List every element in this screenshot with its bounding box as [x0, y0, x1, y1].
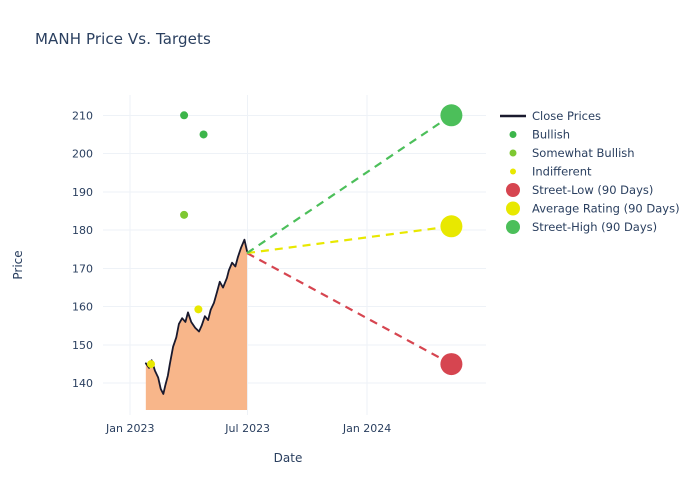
target-line-street-high-days — [247, 115, 451, 253]
legend-swatch-dot — [510, 169, 516, 175]
y-axis-title: Price — [11, 250, 25, 279]
horizontal-gridlines — [103, 115, 486, 383]
x-tick-jul-2023: Jul 2023 — [224, 422, 270, 435]
target-marker-street-high-days[interactable] — [440, 104, 462, 126]
legend-item-indifferent[interactable]: Indifferent — [510, 165, 592, 179]
chart-plot-area: 140150160170180190200210 Jan 2023Jul 202… — [0, 0, 700, 500]
y-axis-tick-labels: 140150160170180190200210 — [72, 109, 93, 390]
legend-label: Bullish — [532, 128, 570, 142]
legend-swatch-dot — [510, 131, 517, 138]
legend-item-somewhat-bullish[interactable]: Somewhat Bullish — [510, 146, 635, 160]
rating-marker-bullish[interactable] — [180, 111, 188, 119]
y-tick-210: 210 — [72, 109, 93, 122]
rating-marker-somewhat-bullish[interactable] — [180, 211, 188, 219]
x-axis-tick-labels: Jan 2023Jul 2023Jan 2024 — [105, 422, 391, 435]
legend-item-average-rating-90-days[interactable]: Average Rating (90 Days) — [506, 202, 680, 216]
x-tick-jan-2023: Jan 2023 — [105, 422, 154, 435]
y-tick-170: 170 — [72, 262, 93, 275]
legend-item-street-high-90-days[interactable]: Street-High (90 Days) — [506, 220, 657, 234]
y-tick-180: 180 — [72, 224, 93, 237]
legend-swatch-dot — [506, 220, 520, 234]
legend-label: Close Prices — [532, 109, 601, 123]
analyst-target-trend-lines — [247, 115, 451, 364]
y-tick-160: 160 — [72, 301, 93, 314]
legend-label: Somewhat Bullish — [532, 146, 635, 160]
rating-marker-bullish[interactable] — [200, 130, 208, 138]
y-tick-150: 150 — [72, 339, 93, 352]
legend-label: Street-Low (90 Days) — [532, 183, 653, 197]
y-tick-140: 140 — [72, 377, 93, 390]
legend-item-close-prices[interactable]: Close Prices — [500, 109, 601, 123]
legend-label: Street-High (90 Days) — [532, 220, 657, 234]
legend-swatch-dot — [510, 150, 517, 157]
target-marker-street-low-days[interactable] — [440, 353, 462, 375]
legend-swatch-dot — [506, 202, 520, 216]
chart-legend: Close PricesBullishSomewhat BullishIndif… — [500, 109, 680, 234]
target-line-street-low-days — [247, 253, 451, 364]
legend-label: Indifferent — [532, 165, 592, 179]
x-tick-jan-2024: Jan 2024 — [342, 422, 391, 435]
target-marker-average-rating-days[interactable] — [440, 215, 462, 237]
y-tick-190: 190 — [72, 186, 93, 199]
analyst-target-markers — [440, 104, 462, 375]
x-axis-title: Date — [274, 451, 303, 465]
y-tick-200: 200 — [72, 148, 93, 161]
legend-item-bullish[interactable]: Bullish — [510, 128, 571, 142]
rating-marker-indifferent[interactable] — [194, 305, 202, 313]
chart-container: MANH Price Vs. Targets 14015016017018019… — [0, 0, 700, 500]
rating-marker-indifferent[interactable] — [147, 360, 155, 368]
legend-swatch-dot — [506, 183, 520, 197]
legend-item-street-low-90-days[interactable]: Street-Low (90 Days) — [506, 183, 653, 197]
legend-label: Average Rating (90 Days) — [532, 202, 680, 216]
